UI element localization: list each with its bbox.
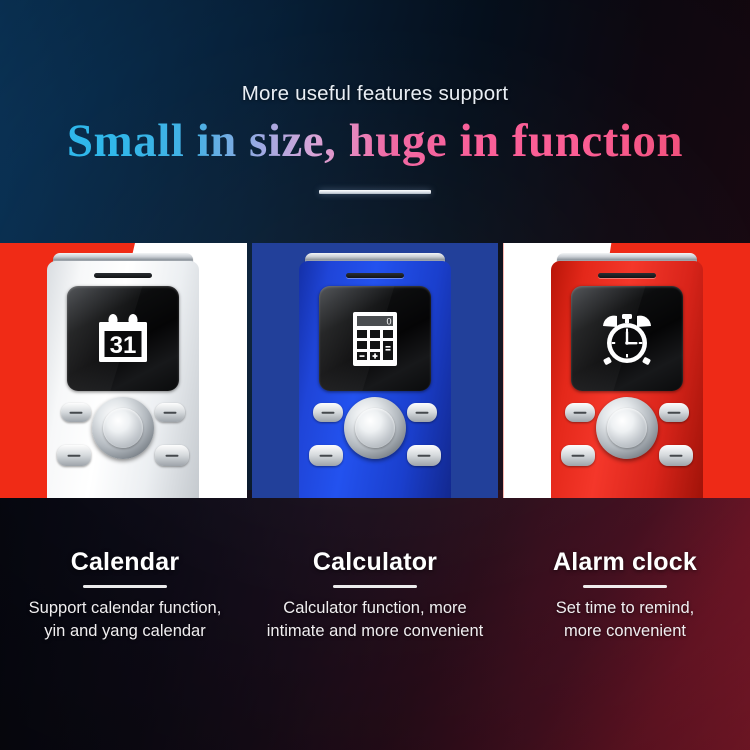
caption-title: Calendar: [12, 548, 238, 577]
feature-panel-calendar: 31: [0, 243, 247, 498]
phone-blue: 0: [299, 253, 451, 498]
screen-icon-area: 0: [319, 286, 431, 391]
phone-white: 31: [47, 253, 199, 498]
calendar-icon: 31: [96, 313, 150, 365]
phone-screen: 31: [67, 286, 179, 391]
promo-banner: More useful features support Small in si…: [0, 0, 750, 750]
caption-rule: [333, 585, 417, 588]
key-right-soft: [659, 403, 689, 422]
key-call: [309, 445, 343, 466]
navigation-dpad: [596, 397, 658, 459]
key-right-soft: [407, 403, 437, 422]
phone-keypad: [47, 399, 199, 498]
screen-icon-area: 31: [67, 286, 179, 391]
caption-description: Set time to remind, more convenient: [512, 597, 738, 644]
key-end: [407, 445, 441, 466]
navigation-dpad: [344, 397, 406, 459]
caption-description: Calculator function, more intimate and m…: [262, 597, 488, 644]
caption-rule: [583, 585, 667, 588]
phone-screen: [571, 286, 683, 391]
key-call: [561, 445, 595, 466]
feature-panels: 31: [0, 243, 750, 498]
key-call: [57, 445, 91, 466]
feature-panel-alarm-clock: [503, 243, 750, 498]
calculator-display-value: 0: [386, 316, 391, 326]
alarm-clock-icon: [599, 312, 655, 366]
phone-keypad: [299, 399, 451, 498]
subtitle: More useful features support: [0, 82, 750, 106]
key-left-soft: [61, 403, 91, 422]
caption-description: Support calendar function, yin and yang …: [12, 597, 238, 644]
page-title: Small in size, huge in function: [0, 115, 750, 168]
key-left-soft: [313, 403, 343, 422]
phone-keypad: [551, 399, 703, 498]
key-end: [155, 445, 189, 466]
feature-captions: Calendar Support calendar function, yin …: [0, 548, 750, 643]
calendar-day-label: 31: [110, 332, 137, 359]
screen-icon-area: [571, 286, 683, 391]
title-divider: [319, 190, 431, 194]
caption-calendar: Calendar Support calendar function, yin …: [0, 548, 250, 643]
caption-title: Calculator: [262, 548, 488, 577]
phone-speaker: [94, 273, 152, 278]
key-end: [659, 445, 693, 466]
caption-rule: [83, 585, 167, 588]
phone-speaker: [598, 273, 656, 278]
phone-screen: 0: [319, 286, 431, 391]
phone-red: [551, 253, 703, 498]
caption-title: Alarm clock: [512, 548, 738, 577]
navigation-dpad: [92, 397, 154, 459]
key-right-soft: [155, 403, 185, 422]
key-left-soft: [565, 403, 595, 422]
caption-alarm-clock: Alarm clock Set time to remind, more con…: [500, 548, 750, 643]
calculator-icon: 0: [353, 312, 397, 366]
feature-panel-calculator: 0: [252, 243, 499, 498]
caption-calculator: Calculator Calculator function, more int…: [250, 548, 500, 643]
phone-speaker: [346, 273, 404, 278]
